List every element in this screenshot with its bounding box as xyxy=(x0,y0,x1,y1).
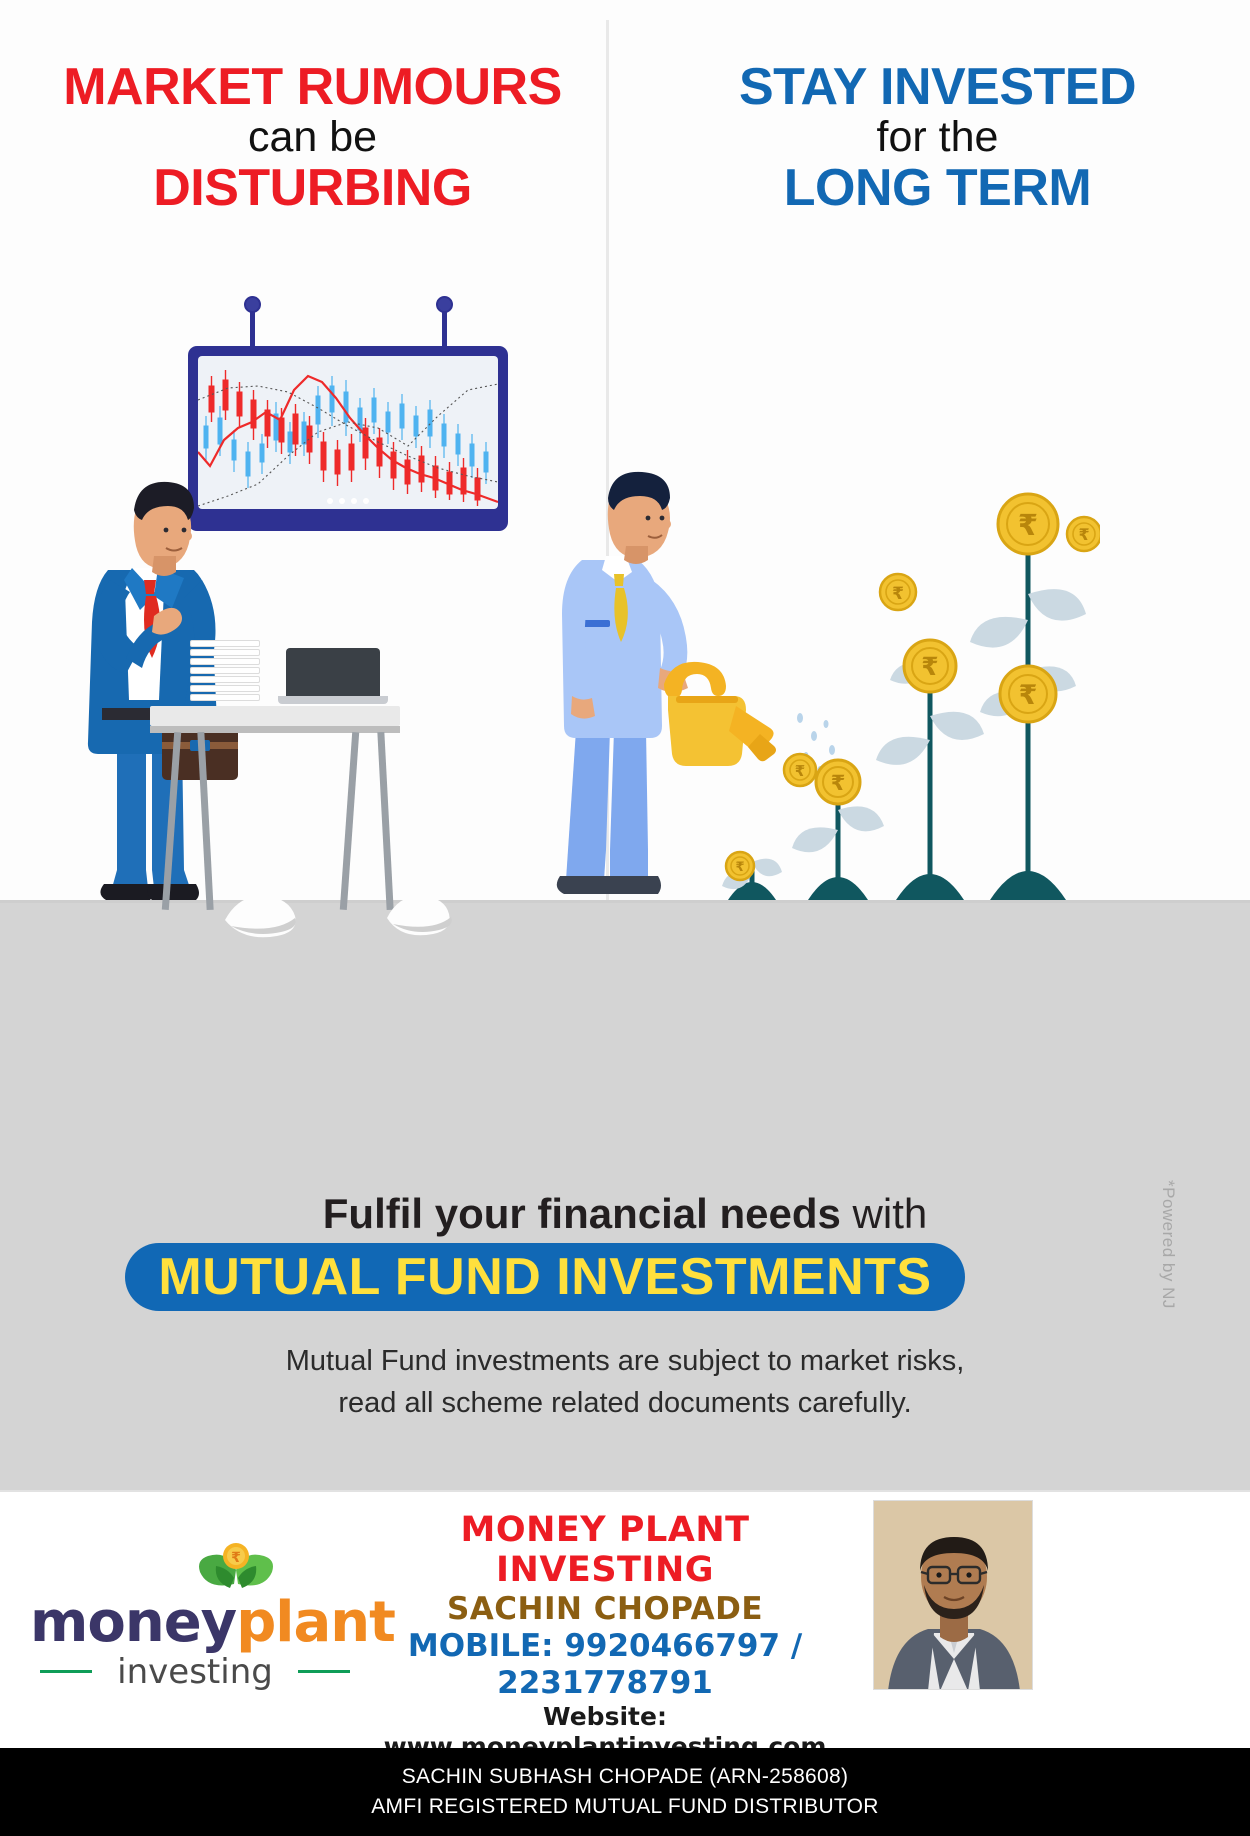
risk-disclaimer: Mutual Fund investments are subject to m… xyxy=(0,1340,1250,1424)
advisor-portrait-icon xyxy=(874,1501,1033,1690)
monitor-pin-right-icon xyxy=(436,296,453,313)
svg-text:₹: ₹ xyxy=(831,771,846,795)
svg-text:₹: ₹ xyxy=(1018,508,1038,542)
desk-leg xyxy=(162,732,181,910)
paper-stack xyxy=(190,640,260,706)
laptop-base xyxy=(278,696,388,704)
svg-text:₹: ₹ xyxy=(231,1550,241,1566)
money-plant-growth-icon: ₹ ₹ ₹ ₹ xyxy=(720,470,1100,910)
svg-text:₹: ₹ xyxy=(921,652,938,681)
mobile-numbers[interactable]: MOBILE: 9920466797 / 2231778791 xyxy=(370,1628,840,1702)
desk-leg xyxy=(197,732,213,910)
logo-tagline: investing xyxy=(30,1652,360,1692)
risk-disclaimer-line1: Mutual Fund investments are subject to m… xyxy=(0,1340,1250,1382)
fulfil-heading-bold: Fulfil your financial needs xyxy=(323,1190,841,1237)
svg-text:₹: ₹ xyxy=(1078,525,1089,544)
headline-left-line1: MARKET RUMOURS xyxy=(0,60,625,114)
headline-right-line1: STAY INVESTED xyxy=(625,60,1250,114)
legal-bar: SACHIN SUBHASH CHOPADE (ARN-258608) AMFI… xyxy=(0,1748,1250,1836)
logo-wordmark: moneyplant xyxy=(30,1590,360,1655)
desk-edge xyxy=(150,726,400,733)
headline-block: MARKET RUMOURS can be DISTURBING STAY IN… xyxy=(0,60,1250,260)
legal-line1: SACHIN SUBHASH CHOPADE (ARN-258608) xyxy=(402,1762,849,1792)
floor-surface xyxy=(0,900,1250,1065)
svg-text:₹: ₹ xyxy=(795,762,805,780)
cta-banner-label: MUTUAL FUND INVESTMENTS xyxy=(158,1247,931,1307)
fulfil-heading-rest: with xyxy=(841,1190,927,1237)
headline-right-line3: LONG TERM xyxy=(625,161,1250,216)
headline-right-line2: for the xyxy=(625,114,1250,161)
contact-details: MONEY PLANT INVESTING SACHIN CHOPADE MOB… xyxy=(370,1510,840,1762)
money-plants-illustration: ₹ ₹ ₹ ₹ xyxy=(720,470,1100,910)
headline-left-line2: can be xyxy=(0,114,625,161)
advisor-photo xyxy=(873,1500,1033,1690)
laptop-screen xyxy=(286,648,380,696)
fulfil-heading: Fulfil your financial needs with xyxy=(0,1190,1250,1238)
headline-right: STAY INVESTED for the LONG TERM xyxy=(625,60,1250,260)
rupee-coin-group: ₹ ₹ ₹ ₹ xyxy=(726,494,1100,880)
cta-banner[interactable]: MUTUAL FUND INVESTMENTS xyxy=(125,1243,965,1311)
crumpled-paper-group xyxy=(215,880,485,940)
monitor-pin-left-icon xyxy=(244,296,261,313)
laptop xyxy=(278,648,388,708)
advisor-name: SACHIN CHOPADE xyxy=(370,1591,840,1628)
desk-top xyxy=(150,706,400,726)
monitor-status-dots-icon xyxy=(327,498,369,504)
firm-name: MONEY PLANT INVESTING xyxy=(370,1510,840,1591)
company-logo[interactable]: ₹ moneyplant investing xyxy=(30,1540,360,1690)
office-desk xyxy=(150,706,400,906)
poster: MARKET RUMOURS can be DISTURBING STAY IN… xyxy=(0,0,1250,1836)
svg-text:₹: ₹ xyxy=(1019,680,1038,711)
headline-left-line3: DISTURBING xyxy=(0,161,625,216)
svg-text:₹: ₹ xyxy=(892,584,904,604)
legal-line2: AMFI REGISTERED MUTUAL FUND DISTRIBUTOR xyxy=(371,1792,879,1822)
svg-text:₹: ₹ xyxy=(735,860,744,875)
logo-word-money: money xyxy=(30,1590,236,1655)
risk-disclaimer-line2: read all scheme related documents carefu… xyxy=(0,1382,1250,1424)
headline-left: MARKET RUMOURS can be DISTURBING xyxy=(0,60,625,260)
powered-by-note: *Powered by NJ xyxy=(1158,1180,1178,1380)
